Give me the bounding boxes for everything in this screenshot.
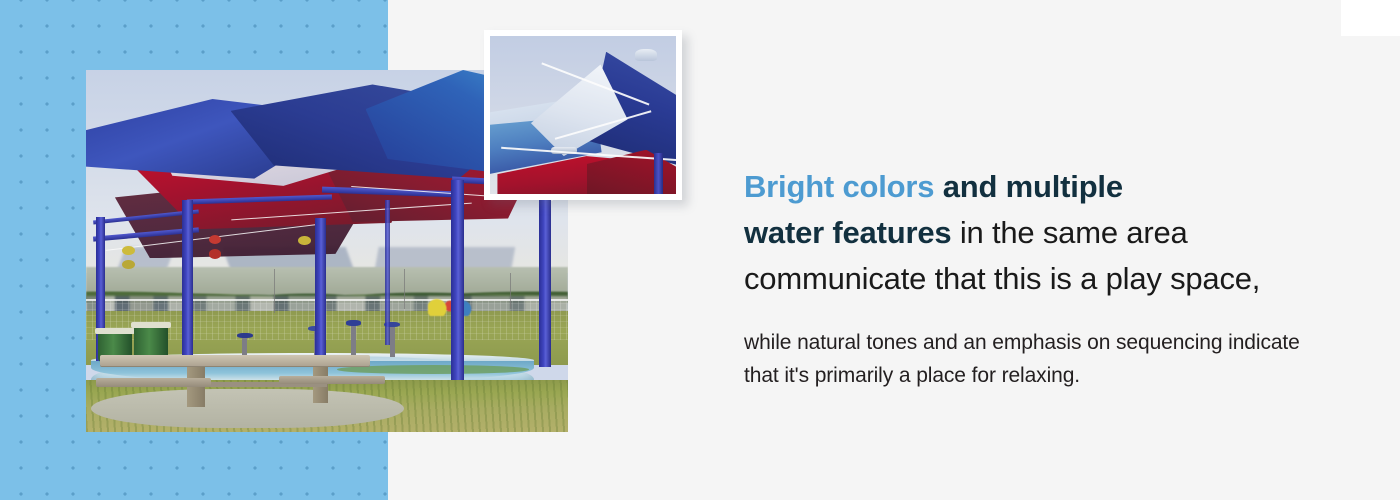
utility-pole	[274, 269, 275, 312]
canopy-support-post	[182, 200, 193, 367]
white-corner-block	[1341, 0, 1400, 36]
subcopy-paragraph: while natural tones and an emphasis on s…	[744, 326, 1314, 392]
headline-accent-phrase: Bright colors	[744, 169, 934, 204]
utility-pole	[510, 273, 511, 309]
overhead-light	[122, 246, 135, 255]
canopy-support-post	[385, 200, 390, 345]
headline-bold-phrase-2: water features	[744, 215, 951, 250]
trash-can-lid	[131, 322, 171, 328]
overhead-light	[209, 249, 222, 258]
canopy-support-post	[451, 180, 464, 379]
photo-scene-inset	[490, 36, 676, 194]
fence-top-rail	[86, 299, 568, 301]
inset-sail-detail-photo	[484, 30, 682, 200]
utility-pole	[404, 269, 405, 309]
sail-peak-cap-fitting	[635, 49, 657, 62]
canopy-support-post	[315, 218, 325, 370]
picnic-table-bench	[279, 376, 385, 385]
headline-bold-phrase-1: and multiple	[934, 169, 1123, 204]
water-nozzle	[351, 323, 356, 357]
water-nozzle-head	[346, 320, 361, 325]
headline: Bright colors and multiple water feature…	[744, 164, 1314, 302]
canopy-support-post	[654, 153, 663, 194]
concrete-pad	[91, 389, 404, 429]
trash-can-lid	[95, 328, 135, 334]
distant-playground-equipment	[428, 298, 471, 316]
callout-text-block: Bright colors and multiple water feature…	[744, 164, 1314, 392]
picnic-table-bench	[96, 378, 212, 387]
picnic-table-top	[100, 355, 370, 367]
feature-callout-canvas: Bright colors and multiple water feature…	[0, 0, 1400, 500]
canopy-support-post	[539, 186, 551, 367]
overhead-light	[298, 236, 311, 245]
water-nozzle	[390, 325, 395, 358]
water-nozzle-head	[237, 333, 252, 338]
